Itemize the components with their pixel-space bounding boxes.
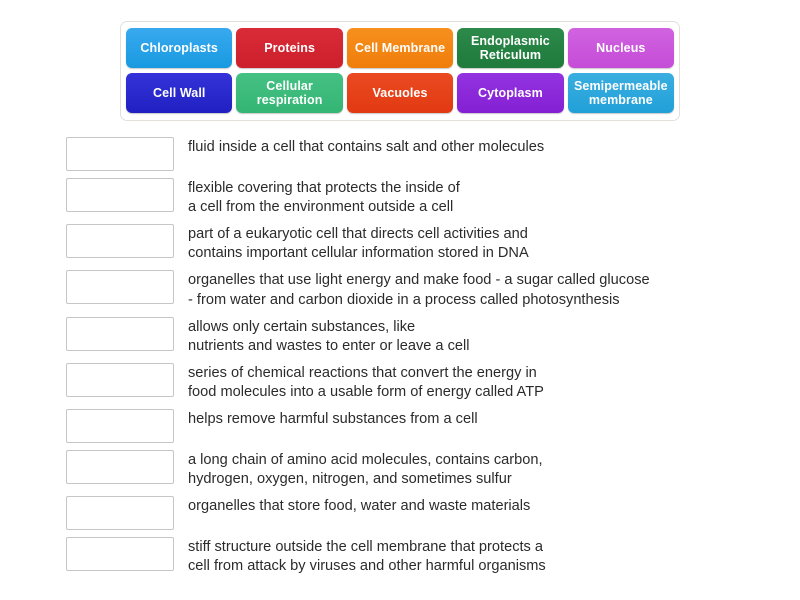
definition-row: helps remove harmful substances from a c… [66, 409, 766, 443]
word-tile[interactable]: Cell Membrane [347, 28, 453, 68]
word-bank-row: ChloroplastsProteinsCell MembraneEndopla… [126, 28, 674, 68]
answer-drop-box[interactable] [66, 224, 174, 258]
word-tile[interactable]: Cellular respiration [236, 73, 342, 113]
word-tile[interactable]: Cell Wall [126, 73, 232, 113]
definition-row: series of chemical reactions that conver… [66, 363, 766, 402]
answer-drop-box[interactable] [66, 363, 174, 397]
definition-row: allows only certain substances, like nut… [66, 317, 766, 356]
answer-drop-box[interactable] [66, 537, 174, 571]
definition-text: organelles that use light energy and mak… [188, 270, 766, 309]
word-tile[interactable]: Nucleus [568, 28, 674, 68]
definition-row: flexible covering that protects the insi… [66, 178, 766, 217]
definition-text: part of a eukaryotic cell that directs c… [188, 224, 766, 263]
definition-text: flexible covering that protects the insi… [188, 178, 766, 217]
definition-text: stiff structure outside the cell membran… [188, 537, 766, 576]
answer-drop-box[interactable] [66, 317, 174, 351]
definition-text: fluid inside a cell that contains salt a… [188, 137, 766, 157]
definition-row: organelles that store food, water and wa… [66, 496, 766, 530]
definition-text: allows only certain substances, like nut… [188, 317, 766, 356]
answer-drop-box[interactable] [66, 496, 174, 530]
definition-row: a long chain of amino acid molecules, co… [66, 450, 766, 489]
definition-row: organelles that use light energy and mak… [66, 270, 766, 309]
word-bank: ChloroplastsProteinsCell MembraneEndopla… [120, 21, 680, 121]
word-tile[interactable]: Vacuoles [347, 73, 453, 113]
word-bank-row: Cell WallCellular respirationVacuolesCyt… [126, 73, 674, 113]
definition-row: stiff structure outside the cell membran… [66, 537, 766, 576]
word-tile[interactable]: Chloroplasts [126, 28, 232, 68]
word-tile[interactable]: Cytoplasm [457, 73, 563, 113]
answer-drop-box[interactable] [66, 270, 174, 304]
definition-row: fluid inside a cell that contains salt a… [66, 137, 766, 171]
definition-text: organelles that store food, water and wa… [188, 496, 766, 516]
word-tile[interactable]: Proteins [236, 28, 342, 68]
answer-drop-box[interactable] [66, 178, 174, 212]
word-tile[interactable]: Semipermeable membrane [568, 73, 674, 113]
definition-text: helps remove harmful substances from a c… [188, 409, 766, 429]
answer-drop-box[interactable] [66, 409, 174, 443]
definition-row: part of a eukaryotic cell that directs c… [66, 224, 766, 263]
answer-drop-box[interactable] [66, 137, 174, 171]
answer-drop-box[interactable] [66, 450, 174, 484]
definition-text: series of chemical reactions that conver… [188, 363, 766, 402]
definition-list: fluid inside a cell that contains salt a… [66, 137, 766, 584]
word-tile[interactable]: Endoplasmic Reticulum [457, 28, 563, 68]
definition-text: a long chain of amino acid molecules, co… [188, 450, 766, 489]
